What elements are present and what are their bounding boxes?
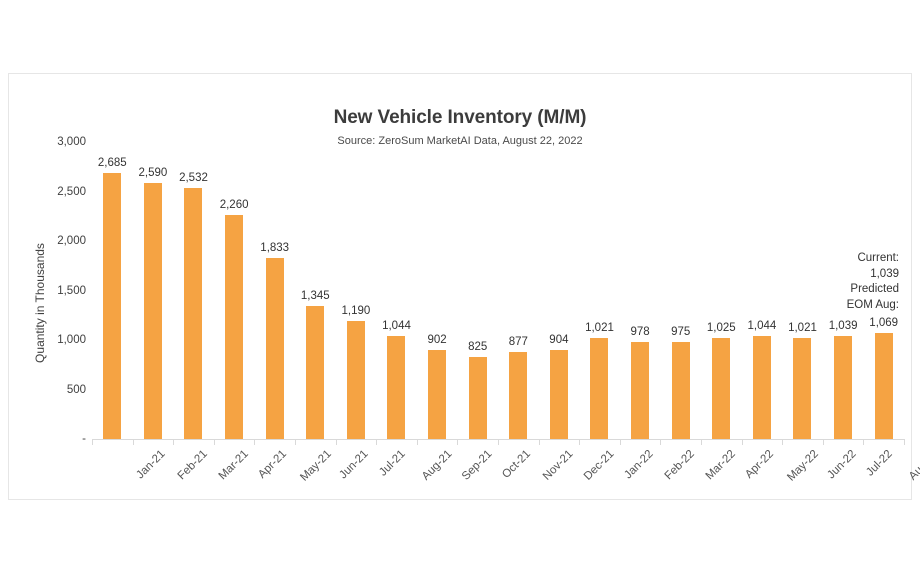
bar-value-label: 1,044 bbox=[748, 320, 777, 332]
annotation-line: EOM Aug: bbox=[807, 298, 899, 314]
bar[interactable] bbox=[306, 306, 324, 439]
bar-slot: 1,021 bbox=[579, 142, 620, 439]
bar[interactable] bbox=[590, 338, 608, 439]
x-tick-mark bbox=[376, 439, 377, 445]
x-tick-label: Feb-21 bbox=[176, 448, 210, 482]
x-tick-label: Sep-21 bbox=[460, 448, 495, 483]
x-tick-mark bbox=[742, 439, 743, 445]
bar-slot: 1,025 bbox=[701, 142, 742, 439]
forecast-annotation: Current:1,039PredictedEOM Aug: bbox=[807, 251, 899, 313]
bar-value-label: 978 bbox=[631, 326, 650, 338]
bar[interactable] bbox=[225, 215, 243, 439]
bar[interactable] bbox=[387, 336, 405, 439]
bar-slot: 2,532 bbox=[173, 142, 214, 439]
x-tick-label: Jun-22 bbox=[825, 448, 858, 481]
bar[interactable] bbox=[266, 258, 284, 439]
bar-value-label: 1,021 bbox=[788, 322, 817, 334]
x-tick-mark bbox=[660, 439, 661, 445]
bar-value-label: 1,833 bbox=[260, 242, 289, 254]
x-tick-label: Jan-22 bbox=[622, 448, 655, 481]
y-tick-label: - bbox=[40, 433, 86, 445]
bar-value-label: 2,260 bbox=[220, 199, 249, 211]
bar-slot: 1,044 bbox=[742, 142, 783, 439]
x-tick-mark bbox=[336, 439, 337, 445]
x-tick-label: Dec-21 bbox=[582, 448, 617, 483]
x-tick-label: Feb-22 bbox=[663, 448, 697, 482]
bar-value-label: 1,039 bbox=[829, 320, 858, 332]
x-tick-mark bbox=[417, 439, 418, 445]
x-tick-label: Jan-21 bbox=[135, 448, 168, 481]
bar[interactable] bbox=[509, 352, 527, 439]
y-tick-label: 2,500 bbox=[40, 186, 86, 198]
x-tick-label: Aug-22 bbox=[907, 448, 920, 483]
bar-value-label: 904 bbox=[549, 334, 568, 346]
bar-value-label: 1,025 bbox=[707, 322, 736, 334]
y-axis-ticks: 3,0002,5002,0001,5001,000500- bbox=[40, 74, 86, 501]
bar-slot: 904 bbox=[539, 142, 580, 439]
bar[interactable] bbox=[631, 342, 649, 439]
bar[interactable] bbox=[428, 350, 446, 439]
bar-value-label: 975 bbox=[671, 326, 690, 338]
x-tick-label: Nov-21 bbox=[541, 448, 576, 483]
bar-value-label: 825 bbox=[468, 341, 487, 353]
x-tick-label: Aug-21 bbox=[419, 448, 454, 483]
x-tick-mark bbox=[254, 439, 255, 445]
chart-card: New Vehicle Inventory (M/M) Source: Zero… bbox=[8, 73, 912, 500]
bar[interactable] bbox=[184, 188, 202, 439]
x-tick-mark bbox=[498, 439, 499, 445]
x-tick-label: Jul-22 bbox=[864, 448, 895, 479]
bar-slot: 2,685 bbox=[92, 142, 133, 439]
bar[interactable] bbox=[103, 173, 121, 439]
bar[interactable] bbox=[834, 336, 852, 439]
bar-slot: 1,833 bbox=[254, 142, 295, 439]
plot-area: 2,6852,5902,5322,2601,8331,3451,1901,044… bbox=[92, 142, 904, 439]
x-tick-mark bbox=[823, 439, 824, 445]
bar[interactable] bbox=[875, 333, 893, 439]
chart-title: New Vehicle Inventory (M/M) bbox=[9, 107, 911, 129]
bar-value-label: 1,021 bbox=[585, 322, 614, 334]
x-tick-mark bbox=[173, 439, 174, 445]
bar-slot: 2,590 bbox=[133, 142, 174, 439]
bar[interactable] bbox=[550, 350, 568, 439]
bar-value-label: 2,532 bbox=[179, 172, 208, 184]
x-tick-label: Oct-21 bbox=[500, 448, 533, 481]
bar-value-label: 902 bbox=[428, 334, 447, 346]
bar-slot: 1,190 bbox=[336, 142, 377, 439]
x-tick-label: Apr-22 bbox=[743, 448, 776, 481]
bar[interactable] bbox=[672, 342, 690, 439]
x-tick-label: Mar-22 bbox=[703, 448, 737, 482]
bar-slot: 825 bbox=[457, 142, 498, 439]
x-tick-label: May-21 bbox=[298, 448, 334, 484]
y-tick-label: 3,000 bbox=[40, 136, 86, 148]
annotation-line: Current: bbox=[807, 251, 899, 267]
bar-value-label: 1,345 bbox=[301, 290, 330, 302]
x-tick-mark bbox=[457, 439, 458, 445]
bar[interactable] bbox=[753, 336, 771, 439]
bar-value-label: 2,685 bbox=[98, 157, 127, 169]
x-tick-mark bbox=[539, 439, 540, 445]
bar-value-label: 1,069 bbox=[869, 317, 898, 329]
bar-slot: 1,345 bbox=[295, 142, 336, 439]
x-tick-mark bbox=[92, 439, 93, 445]
bar-slot: 877 bbox=[498, 142, 539, 439]
y-tick-label: 500 bbox=[40, 384, 86, 396]
x-tick-mark bbox=[214, 439, 215, 445]
bar[interactable] bbox=[469, 357, 487, 439]
bar-slot: 978 bbox=[620, 142, 661, 439]
bar[interactable] bbox=[144, 183, 162, 439]
x-tick-mark bbox=[904, 439, 905, 445]
y-tick-label: 1,500 bbox=[40, 285, 86, 297]
x-tick-mark bbox=[579, 439, 580, 445]
x-tick-label: Apr-21 bbox=[256, 448, 289, 481]
y-tick-label: 2,000 bbox=[40, 235, 86, 247]
annotation-line: Predicted bbox=[807, 282, 899, 298]
y-tick-label: 1,000 bbox=[40, 334, 86, 346]
annotation-line: 1,039 bbox=[807, 267, 899, 283]
bar-value-label: 1,044 bbox=[382, 320, 411, 332]
x-tick-mark bbox=[620, 439, 621, 445]
bar-slot: 975 bbox=[660, 142, 701, 439]
bar[interactable] bbox=[793, 338, 811, 439]
x-tick-label: Mar-21 bbox=[216, 448, 250, 482]
x-tick-mark bbox=[295, 439, 296, 445]
x-tick-mark bbox=[863, 439, 864, 445]
bar-slot: 1,044 bbox=[376, 142, 417, 439]
x-tick-label: Jun-21 bbox=[338, 448, 371, 481]
x-tick-mark bbox=[782, 439, 783, 445]
x-tick-label: May-22 bbox=[785, 448, 821, 484]
bar-value-label: 877 bbox=[509, 336, 528, 348]
bar-value-label: 1,190 bbox=[342, 305, 371, 317]
x-tick-mark bbox=[701, 439, 702, 445]
bar-slot: 902 bbox=[417, 142, 458, 439]
bar[interactable] bbox=[712, 338, 730, 439]
bar-slot: 2,260 bbox=[214, 142, 255, 439]
bar[interactable] bbox=[347, 321, 365, 439]
x-tick-label: Jul-21 bbox=[377, 448, 408, 479]
x-tick-mark bbox=[133, 439, 134, 445]
bar-value-label: 2,590 bbox=[139, 167, 168, 179]
